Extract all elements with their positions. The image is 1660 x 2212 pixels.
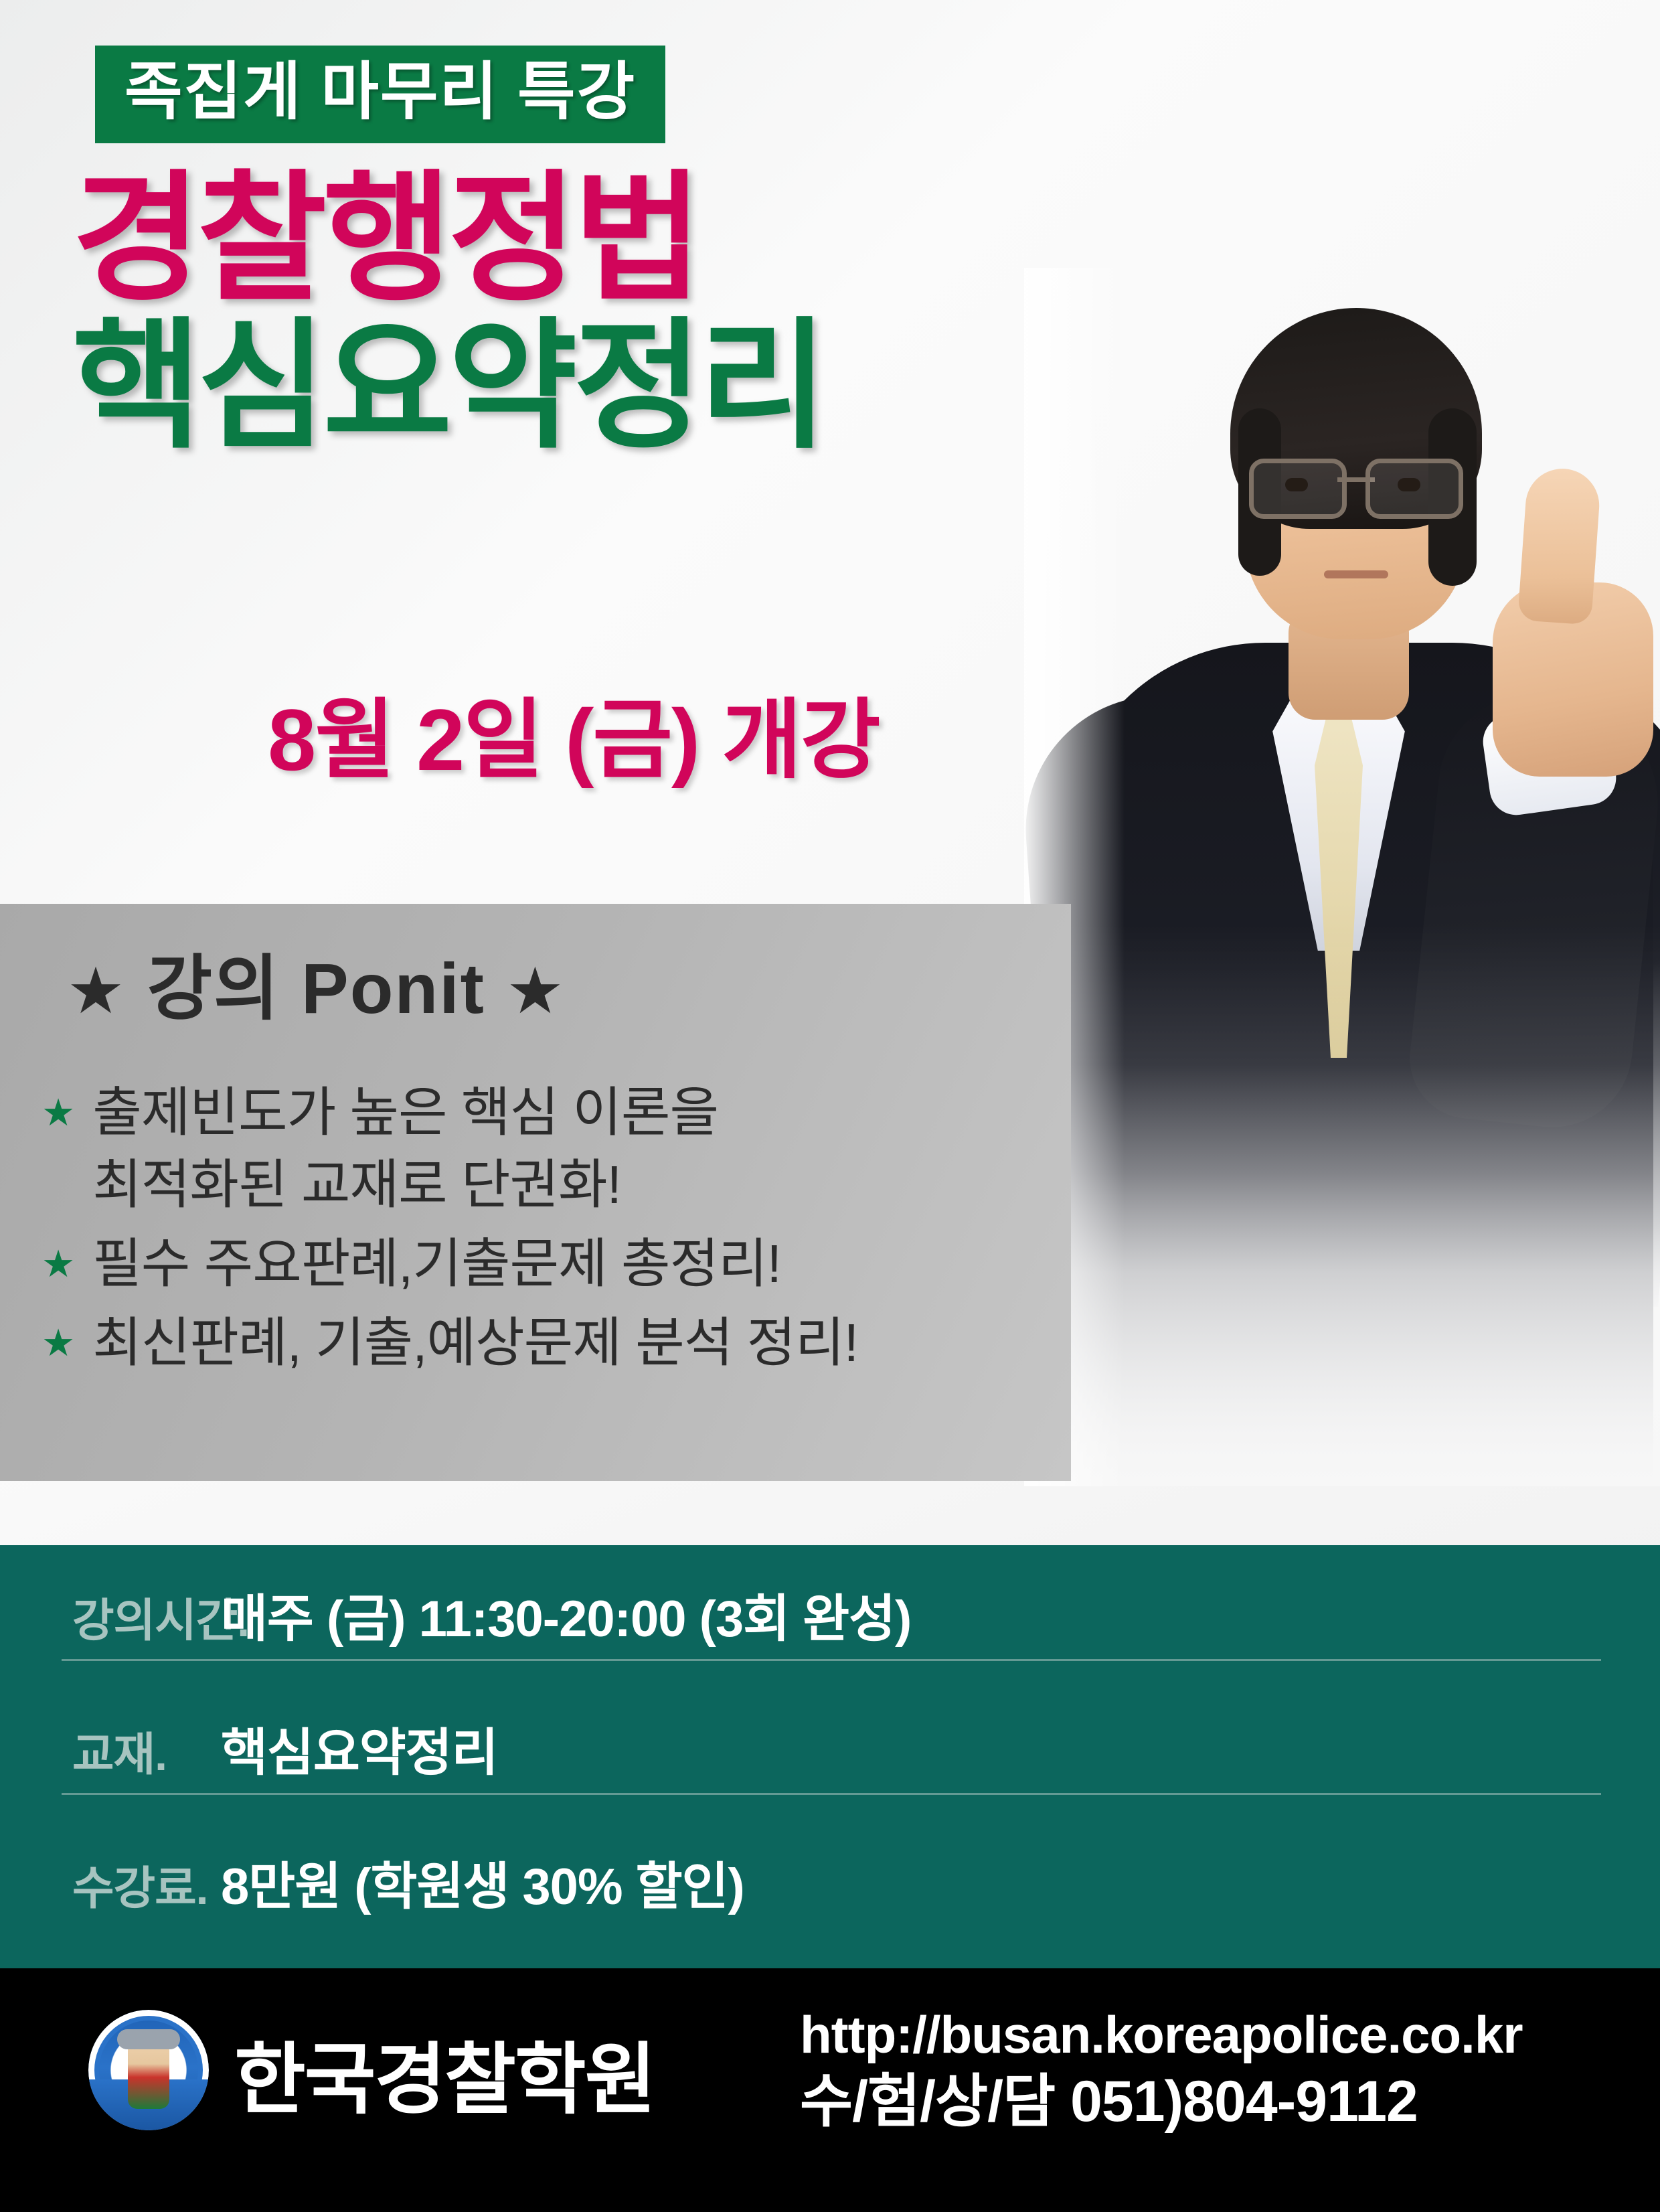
- list-item: ★ 필수 주요판례,기출문제 총정리!: [41, 1228, 1059, 1300]
- lecture-point-list: ★ 출제빈도가 높은 핵심 이론을 최적화된 교재로 단권화! ★ 필수 주요판…: [41, 1077, 1059, 1386]
- photo-mouth: [1324, 570, 1388, 578]
- photo-eye-right: [1398, 478, 1420, 491]
- info-divider-2: [62, 1793, 1601, 1795]
- list-item-line1: 최신판례, 기출,예상문제 분석 정리!: [92, 1307, 858, 1379]
- photo-eye-left: [1285, 478, 1308, 491]
- list-item-line1: 필수 주요판례,기출문제 총정리!: [92, 1228, 781, 1300]
- list-item-text: 필수 주요판례,기출문제 총정리!: [92, 1228, 781, 1300]
- star-icon-left: ★: [67, 955, 126, 1027]
- info-value-textbook: 핵심요약정리: [221, 1711, 498, 1785]
- list-item: ★ 최신판례, 기출,예상문제 분석 정리!: [41, 1307, 1059, 1379]
- list-item-text: 출제빈도가 높은 핵심 이론을 최적화된 교재로 단권화!: [92, 1077, 718, 1221]
- info-row-fee: 수강료. 8만원 (학원생 30% 할인): [0, 1845, 1660, 1919]
- headline-course: 핵심요약정리: [72, 315, 824, 458]
- star-icon: ★: [41, 1245, 75, 1283]
- academy-logo-icon: [88, 2010, 209, 2130]
- star-icon: ★: [41, 1094, 75, 1131]
- headline-block: 경찰행정법 핵심요약정리: [72, 167, 824, 458]
- list-item: ★ 출제빈도가 높은 핵심 이론을 최적화된 교재로 단권화!: [41, 1077, 1059, 1221]
- logo-officer-hat: [117, 2029, 180, 2049]
- eyeglasses-icon: [1249, 459, 1463, 511]
- start-date-text: 8월 2일 (금) 개강: [268, 669, 880, 795]
- list-item-line1: 출제빈도가 높은 핵심 이론을: [92, 1077, 718, 1149]
- info-label-textbook: 교재.: [0, 1717, 221, 1784]
- headline-subject: 경찰행정법: [72, 167, 824, 311]
- info-value-schedule: 매주 (금) 11:30-20:00 (3회 완성): [221, 1577, 911, 1651]
- info-label-schedule: 강의시간.: [0, 1583, 221, 1650]
- presenter-photo: [1024, 268, 1660, 1486]
- list-item-line2: 최적화된 교재로 단권화!: [92, 1149, 718, 1221]
- star-icon-right: ★: [506, 955, 565, 1027]
- info-value-fee: 8만원 (학원생 30% 할인): [221, 1845, 744, 1919]
- website-url[interactable]: http://busan.koreapolice.co.kr: [800, 2006, 1523, 2064]
- contact-block: http://busan.koreapolice.co.kr 수/험/상/담 0…: [800, 2006, 1523, 2134]
- info-label-fee: 수강료.: [0, 1851, 221, 1917]
- phone-number[interactable]: 수/험/상/담 051)804-9112: [800, 2069, 1523, 2134]
- special-lecture-badge: 족집게 마무리 특강: [95, 46, 665, 143]
- poster-root: 족집게 마무리 특강 경찰행정법 핵심요약정리 8월 2일 (금) 개강 ★ 강…: [0, 0, 1660, 2212]
- lecture-point-title: ★ 강의 Ponit ★: [67, 931, 565, 1034]
- info-row-textbook: 교재. 핵심요약정리: [0, 1711, 1660, 1785]
- info-row-schedule: 강의시간. 매주 (금) 11:30-20:00 (3회 완성): [0, 1577, 1660, 1651]
- list-item-text: 최신판례, 기출,예상문제 분석 정리!: [92, 1307, 858, 1379]
- academy-name: 한국경찰학원: [234, 2017, 655, 2129]
- photo-thumb: [1517, 466, 1602, 625]
- lecture-point-title-text: 강의 Ponit: [147, 949, 485, 1028]
- star-icon: ★: [41, 1324, 75, 1362]
- info-divider-1: [62, 1659, 1601, 1661]
